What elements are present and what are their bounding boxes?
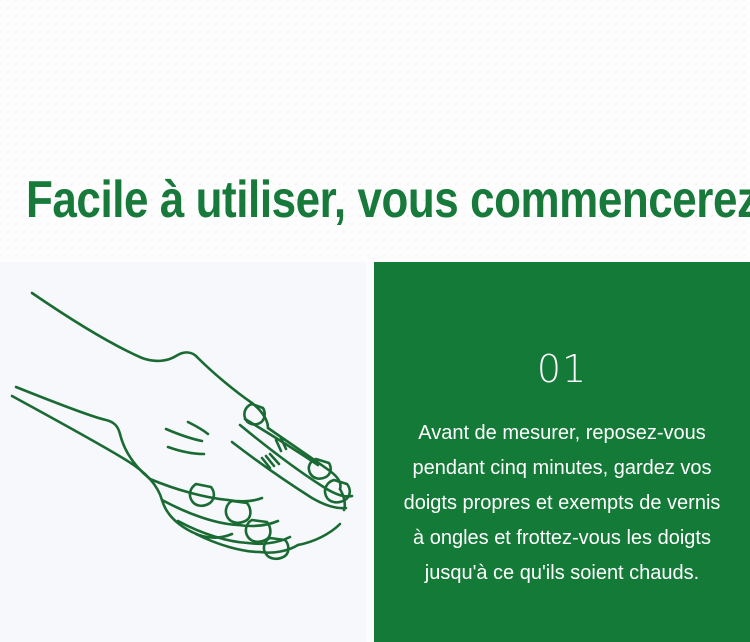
step-description-line: jusqu'à ce qu'ils soient chauds. bbox=[392, 556, 732, 591]
illustration-panel bbox=[0, 262, 366, 642]
step-description-line: à ongles et frottez-vous les doigts bbox=[392, 521, 732, 556]
info-panel: 01 Avant de mesurer, reposez-vous pendan… bbox=[374, 262, 750, 642]
content-panels: 01 Avant de mesurer, reposez-vous pendan… bbox=[0, 262, 750, 642]
step-description-line: Avant de mesurer, reposez-vous bbox=[392, 416, 732, 451]
heading-band: Facile à utiliser, vous commencerez bbox=[0, 150, 750, 250]
page-title: Facile à utiliser, vous commencerez bbox=[26, 174, 750, 226]
step-description-line: doigts propres et exempts de vernis bbox=[392, 486, 732, 521]
step-description: Avant de mesurer, reposez-vous pendant c… bbox=[392, 416, 732, 591]
product-instruction-page: Facile à utiliser, vous commencerez bbox=[0, 0, 750, 642]
step-number: 01 bbox=[537, 350, 587, 388]
step-description-line: pendant cinq minutes, gardez vos bbox=[392, 451, 732, 486]
hands-illustration-icon bbox=[0, 262, 366, 642]
